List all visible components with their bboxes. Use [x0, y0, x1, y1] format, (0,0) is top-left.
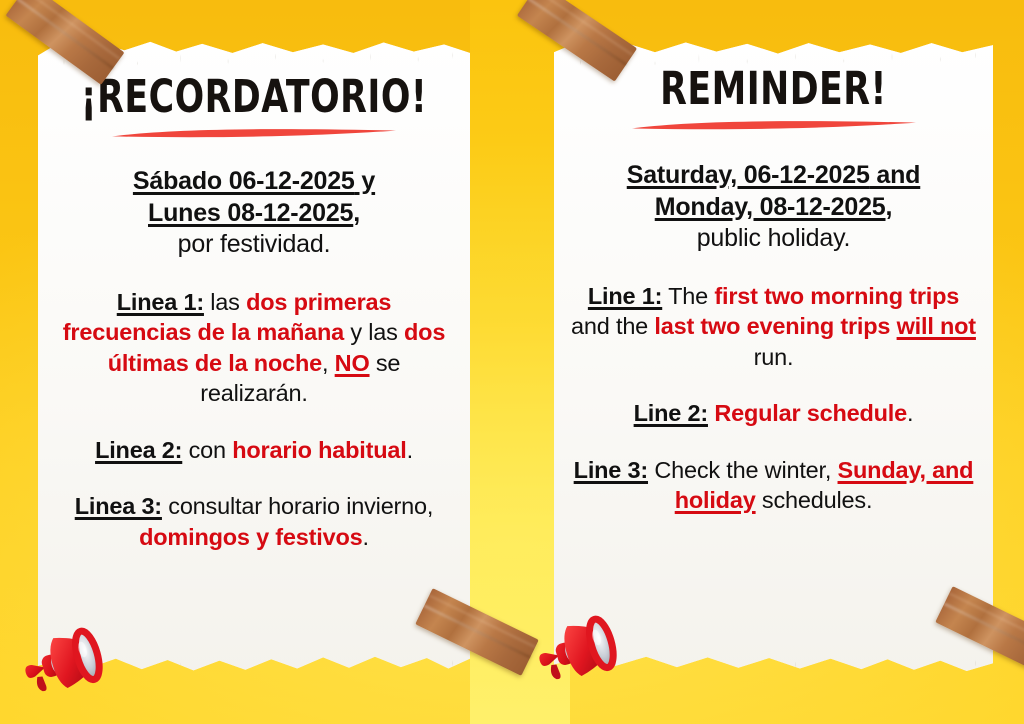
text-segment-2: .	[363, 524, 369, 550]
spanish-dates-comma: ,	[353, 199, 360, 227]
poster-canvas: ¡RECORDATORIO! Sábado 06-12-2025 y Lunes…	[0, 0, 1024, 724]
english-line-3-text: Check the winter, Sunday, and holiday sc…	[648, 457, 973, 514]
spanish-line-3-label: Linea 3:	[75, 493, 162, 519]
english-paper-sheet: REMINDER! Saturday, 06-12-2025 and Monda…	[554, 36, 993, 688]
english-date-1: Saturday, 06-12-2025	[627, 161, 870, 189]
text-segment-4: ,	[322, 350, 335, 376]
spanish-paper-sheet: ¡RECORDATORIO! Sábado 06-12-2025 y Lunes…	[38, 36, 470, 688]
spanish-body: Sábado 06-12-2025 y Lunes 08-12-2025, po…	[54, 166, 454, 552]
text-segment-0: con	[182, 437, 232, 463]
text-segment-1: domingos y festivos	[139, 524, 362, 550]
english-date-2: Monday, 08-12-2025	[655, 193, 886, 221]
text-segment-2: schedules.	[756, 487, 873, 513]
spanish-panel-content: ¡RECORDATORIO! Sábado 06-12-2025 y Lunes…	[38, 36, 470, 552]
text-segment-0: The	[662, 283, 714, 309]
text-segment-4: will not	[897, 313, 976, 339]
text-segment-0: las	[204, 289, 246, 315]
spanish-dates-reason: por festividad.	[178, 230, 331, 258]
text-segment-2: .	[907, 400, 913, 426]
text-segment-5: run.	[754, 344, 794, 370]
english-panel-content: REMINDER! Saturday, 06-12-2025 and Monda…	[554, 36, 993, 516]
english-dates-reason: public holiday.	[697, 224, 851, 252]
text-segment-3: last two evening trips	[654, 313, 896, 339]
text-segment-1: first two morning trips	[714, 283, 959, 309]
text-segment-0: Check the winter,	[648, 457, 838, 483]
spanish-date-2: Lunes 08-12-2025	[148, 199, 353, 227]
english-line-3-label: Line 3:	[574, 457, 648, 483]
spanish-title: ¡RECORDATORIO!	[66, 74, 442, 119]
english-line-2-text: Regular schedule.	[708, 400, 913, 426]
spanish-dates-conjunction: y	[355, 167, 375, 195]
megaphone-icon-left	[16, 622, 112, 700]
text-segment-0: consultar horario invierno,	[162, 493, 433, 519]
spanish-line-3: Linea 3: consultar horario invierno, dom…	[54, 491, 454, 552]
english-title: REMINDER!	[582, 66, 965, 111]
title-swoosh-underline	[629, 119, 919, 132]
english-dates-comma: ,	[886, 193, 893, 221]
english-body: Saturday, 06-12-2025 and Monday, 08-12-2…	[570, 160, 977, 516]
spanish-line-2-label: Linea 2:	[95, 437, 182, 463]
text-segment-5: NO	[335, 350, 370, 376]
text-segment-1: horario habitual	[232, 437, 406, 463]
text-segment-2: and the	[571, 313, 654, 339]
english-line-3: Line 3: Check the winter, Sunday, and ho…	[570, 455, 977, 516]
title-swoosh-underline	[109, 127, 399, 140]
spanish-line-2-text: con horario habitual.	[182, 437, 413, 463]
english-dates-paragraph: Saturday, 06-12-2025 and Monday, 08-12-2…	[570, 160, 977, 255]
text-segment-1: Regular schedule	[714, 400, 907, 426]
megaphone-icon-right	[530, 610, 626, 688]
spanish-line-1: Linea 1: las dos primeras frecuencias de…	[54, 287, 454, 409]
text-segment-2: .	[407, 437, 413, 463]
english-line-2-label: Line 2:	[634, 400, 708, 426]
english-line-1: Line 1: The first two morning trips and …	[570, 281, 977, 373]
spanish-date-1: Sábado 06-12-2025	[133, 167, 355, 195]
spanish-line-3-text: consultar horario invierno, domingos y f…	[139, 493, 433, 550]
spanish-line-1-label: Linea 1:	[117, 289, 204, 315]
spanish-line-2: Linea 2: con horario habitual.	[54, 435, 454, 466]
text-segment-2: y las	[344, 319, 404, 345]
english-line-1-label: Line 1:	[588, 283, 662, 309]
english-line-2: Line 2: Regular schedule.	[570, 398, 977, 429]
english-dates-conjunction: and	[870, 161, 921, 189]
spanish-dates-paragraph: Sábado 06-12-2025 y Lunes 08-12-2025, po…	[54, 166, 454, 261]
